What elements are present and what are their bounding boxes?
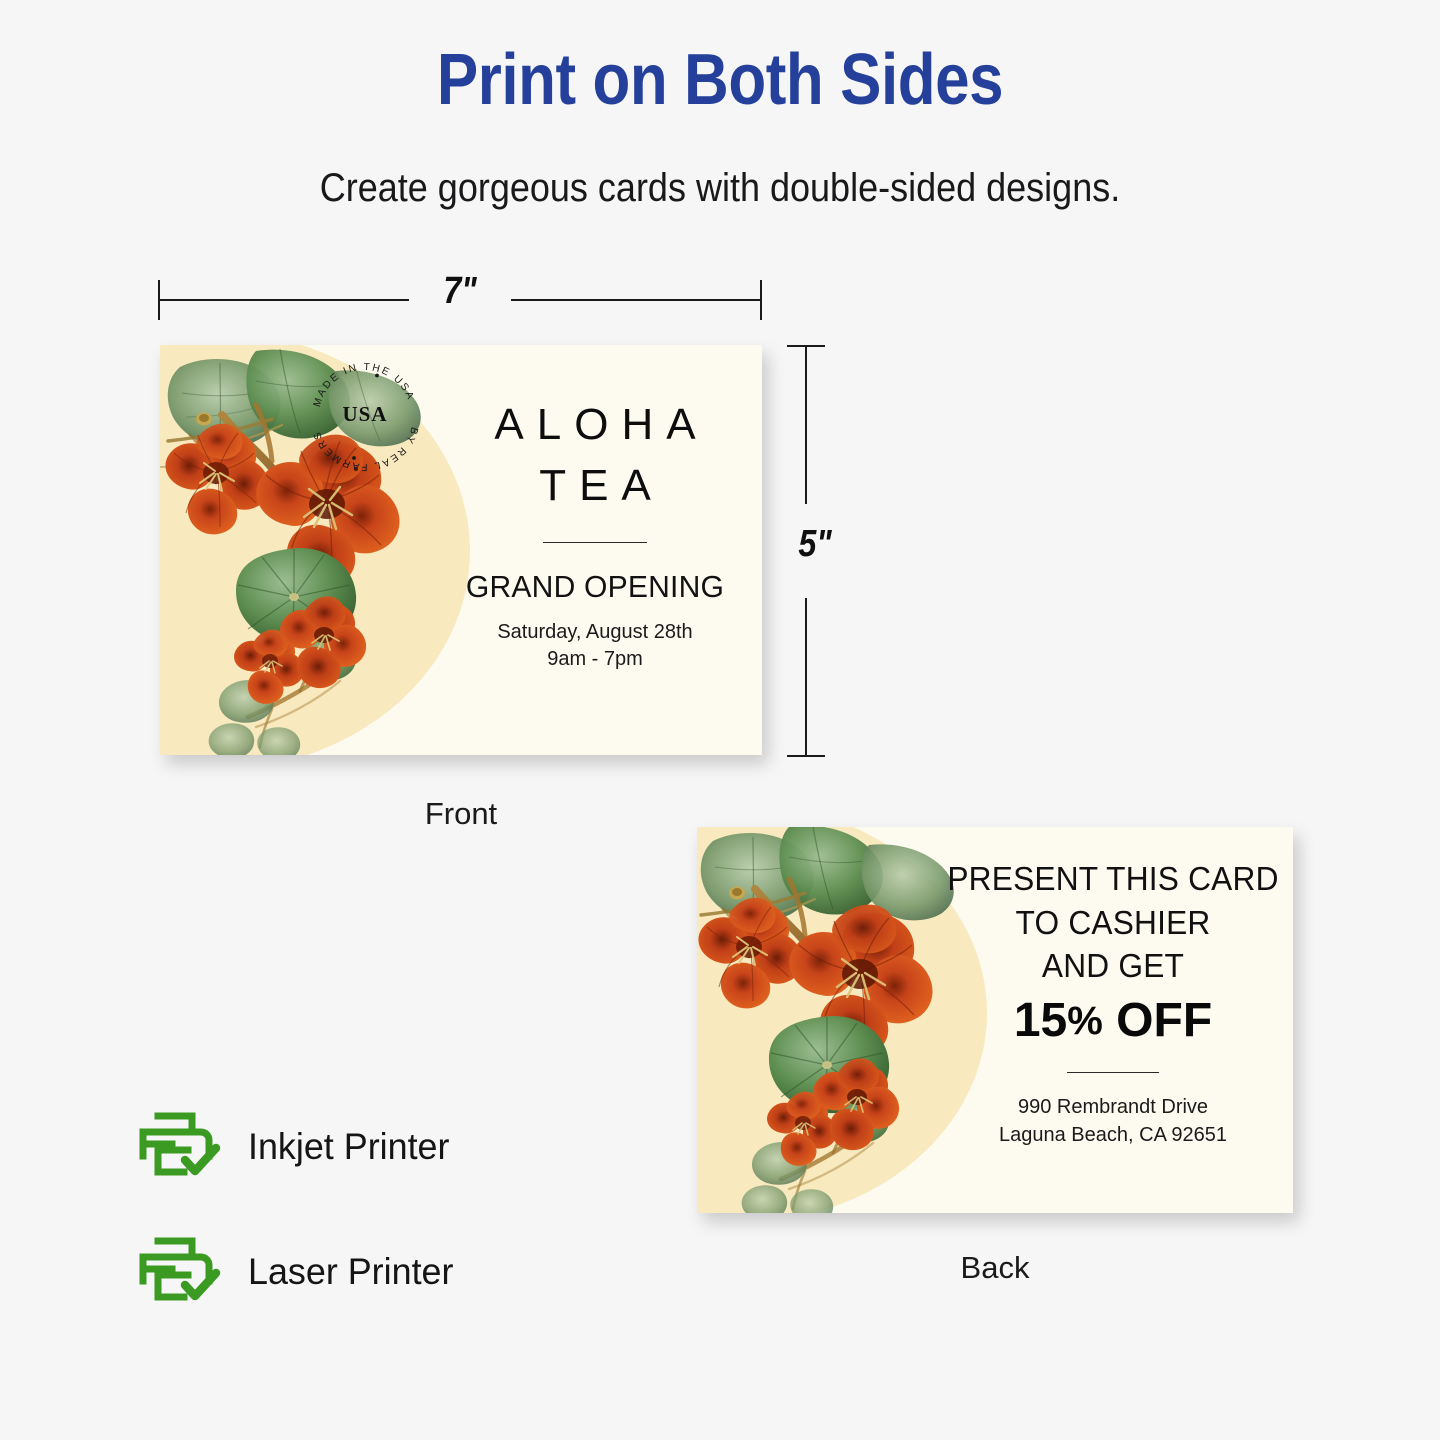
brand-name-line2: TEA [428, 458, 762, 513]
width-dimension: 7" [158, 280, 762, 326]
stamp-center-text: USA [342, 402, 387, 426]
brand-name-line1: ALOHA [428, 397, 762, 452]
width-dimension-label: 7" [203, 270, 716, 313]
page-title: Print on Both Sides [101, 44, 1339, 116]
card-front-caption: Front [160, 796, 762, 832]
dimension-line-top [805, 346, 807, 504]
promo-text: PRESENT THIS CARD TO CASHIER AND GET [940, 857, 1286, 988]
dimension-line-bottom [805, 598, 807, 756]
address-line-2: Laguna Beach, CA 92651 [933, 1121, 1293, 1149]
event-details: Saturday, August 28th 9am - 7pm [428, 619, 762, 673]
printer-row-inkjet: Inkjet Printer [138, 1104, 460, 1190]
printer-label: Inkjet Printer [248, 1126, 449, 1168]
svg-text:BY REAL FARMERS: BY REAL FARMERS [311, 426, 419, 473]
promo-line-2: TO CASHIER [940, 901, 1286, 945]
printer-check-icon [138, 1235, 222, 1309]
divider-rule [1067, 1072, 1159, 1073]
promo-page: Print on Both Sides Create gorgeous card… [0, 0, 1440, 1440]
event-tagline: GRAND OPENING [433, 569, 757, 605]
height-dimension: 5" [785, 345, 843, 757]
store-address: 990 Rembrandt Drive Laguna Beach, CA 926… [933, 1093, 1293, 1149]
promo-line-3: AND GET [940, 944, 1286, 988]
event-hours: 9am - 7pm [428, 646, 762, 673]
card-back-caption: Back [697, 1250, 1293, 1286]
discount-amount: 15% OFF [933, 992, 1293, 1051]
printer-compatibility-list: Inkjet Printer Laser Printer [138, 1104, 460, 1315]
made-in-usa-stamp: MADE IN THE USA BY REAL FARMERS USA [308, 359, 422, 473]
height-dimension-label: 5" [785, 523, 845, 566]
stamp-arc-bottom-text: BY REAL FARMERS [311, 426, 419, 473]
promo-line-1: PRESENT THIS CARD [940, 857, 1286, 901]
printer-label: Laser Printer [248, 1251, 453, 1293]
card-front-text: ALOHA TEA GRAND OPENING Saturday, August… [428, 397, 762, 673]
event-date: Saturday, August 28th [428, 619, 762, 646]
card-back-text: PRESENT THIS CARD TO CASHIER AND GET 15%… [933, 857, 1293, 1149]
divider-rule [543, 542, 647, 543]
address-line-1: 990 Rembrandt Drive [933, 1093, 1293, 1121]
card-back-preview[interactable]: PRESENT THIS CARD TO CASHIER AND GET 15%… [697, 827, 1293, 1213]
printer-row-laser: Laser Printer [138, 1229, 460, 1315]
card-front-preview[interactable]: MADE IN THE USA BY REAL FARMERS USA ALOH… [160, 345, 762, 755]
printer-check-icon [138, 1110, 222, 1184]
page-subtitle: Create gorgeous cards with double-sided … [72, 165, 1368, 211]
